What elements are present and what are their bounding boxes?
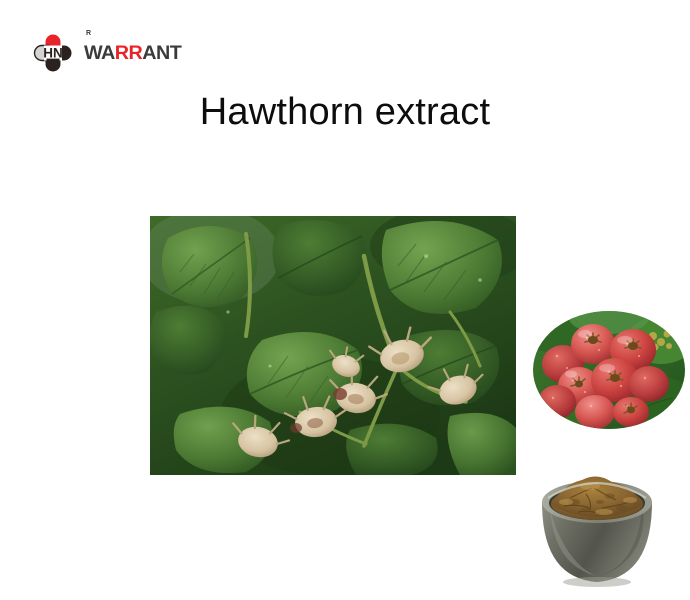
brand-wordmark: WARRANT bbox=[84, 44, 181, 63]
brand-logo: HN R WARRANT bbox=[30, 30, 84, 76]
wordmark-segment-2: RR bbox=[115, 43, 143, 64]
hawthorn-berries-photo bbox=[533, 306, 685, 434]
registered-trademark-mark: R bbox=[86, 30, 91, 37]
page-title: Hawthorn extract bbox=[0, 92, 690, 134]
hawthorn-extract-powder-photo bbox=[530, 458, 665, 590]
hawthorn-plant-photo bbox=[150, 216, 516, 475]
hawthorn-plant-photo-graphic bbox=[150, 216, 516, 475]
hawthorn-extract-powder-photo-graphic bbox=[530, 458, 665, 590]
wordmark-segment-1: WA bbox=[84, 43, 115, 64]
hawthorn-berries-photo-graphic bbox=[533, 306, 685, 434]
logo-letters: HN bbox=[43, 46, 63, 61]
wordmark-segment-3: ANT bbox=[142, 43, 181, 64]
chn-clover-logo-icon: HN bbox=[30, 30, 76, 76]
